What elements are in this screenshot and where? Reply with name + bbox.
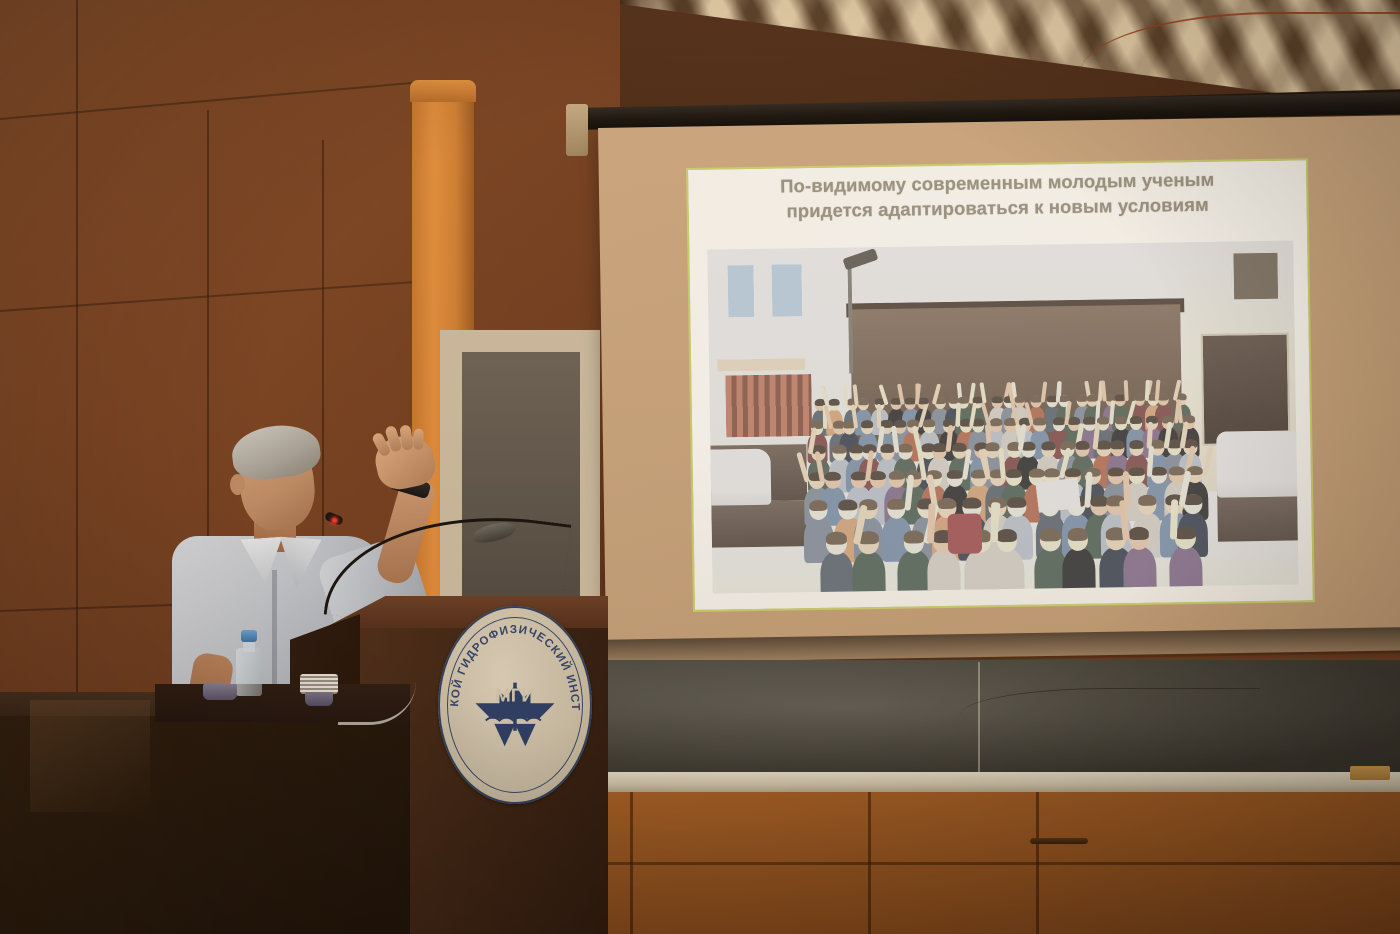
photo-person-hair	[1130, 440, 1144, 449]
photo-person-hair	[937, 498, 956, 510]
photo-crowd	[707, 240, 1298, 593]
projected-slide[interactable]: По-видимому современным молодым ученым п…	[686, 158, 1315, 612]
photo-raised-arm	[1101, 380, 1106, 401]
microphone-led-icon	[331, 517, 338, 524]
photo-person-hair	[1044, 468, 1060, 478]
photo-raised-arm	[843, 384, 847, 405]
photo-person-hair	[1083, 417, 1095, 425]
photo-person-hair	[1151, 466, 1167, 476]
photo-person-hair	[1014, 396, 1025, 403]
photo-person-hair	[858, 398, 869, 405]
photo-person	[927, 549, 961, 593]
slide-title: По-видимому современным молодым ученым п…	[688, 166, 1307, 226]
photo-person-hair	[849, 445, 863, 454]
photo-person-hair	[1033, 418, 1045, 426]
photo-raised-arm	[1124, 380, 1129, 401]
water-bottle[interactable]	[236, 648, 262, 696]
photo-person	[1062, 547, 1096, 593]
table-highlight	[30, 700, 150, 812]
photo-person-hair	[997, 529, 1018, 542]
photo-person-hair	[1006, 468, 1022, 478]
photo-person-hair	[889, 470, 905, 480]
photo-person-hair	[1175, 526, 1196, 539]
photo-person-hair	[953, 443, 967, 452]
lit-door-edge-top	[410, 80, 476, 102]
svg-text:МГИ: МГИ	[495, 686, 535, 707]
wall-seam	[0, 281, 419, 312]
photo-person-hair	[861, 420, 873, 428]
photo-person-hair	[1110, 440, 1124, 449]
photo-person-hair	[898, 444, 912, 453]
photo-person-hair	[870, 470, 886, 480]
slide-group-photo	[707, 240, 1298, 593]
photo-person-hair	[1168, 466, 1184, 476]
photo-person-hair	[839, 499, 858, 511]
saucer-stack[interactable]	[300, 674, 338, 694]
photo-person	[820, 551, 854, 593]
presentation-photo-scene: По-видимому современным молодым ученым п…	[0, 0, 1400, 934]
photo-person-hair	[824, 471, 840, 481]
photo-person-hair	[809, 500, 828, 512]
photo-person-hair	[985, 442, 999, 451]
photo-person-hair	[1108, 467, 1124, 477]
photo-raised-arm	[991, 503, 998, 543]
photo-raised-arm	[956, 403, 960, 427]
cabinet-seam	[600, 862, 1400, 865]
photo-raised-arm	[877, 404, 881, 428]
photo-person-hair	[894, 420, 906, 428]
photo-person-hair	[1129, 466, 1145, 476]
finger	[399, 425, 413, 451]
photo-person-hair	[992, 396, 1003, 403]
photo-person-hair	[947, 469, 963, 479]
photo-raised-arm	[853, 384, 859, 405]
finger	[413, 429, 423, 450]
photo-person-hair	[903, 530, 924, 543]
photo-person	[991, 548, 1025, 593]
photo-person-hair	[1138, 494, 1157, 506]
photo-person	[1123, 546, 1157, 593]
photo-person-hair	[1040, 528, 1061, 541]
photo-person-hair	[832, 445, 846, 454]
wall-seam	[0, 81, 418, 120]
photo-person	[1169, 546, 1203, 594]
photo-person-hair	[1007, 496, 1026, 508]
chalkboard-shading	[604, 660, 1400, 778]
photo-person-hair	[829, 399, 840, 406]
photo-person-hair	[1097, 441, 1111, 450]
photo-person-hair	[1075, 441, 1089, 450]
chalk-ledge	[600, 772, 1400, 794]
cup[interactable]	[203, 684, 237, 700]
photo-person-hair	[923, 419, 935, 427]
photo-person-hair	[1115, 416, 1127, 424]
photo-person-hair	[880, 444, 894, 453]
photo-person	[852, 551, 886, 594]
screen-roller-bracket	[566, 104, 588, 156]
photo-person-hair	[1065, 467, 1081, 477]
photo-person-hair	[1031, 395, 1042, 402]
photo-person-hair	[990, 418, 1002, 426]
photo-person-hair	[887, 498, 906, 510]
chalkboard-eraser[interactable]	[1350, 766, 1390, 780]
photo-person-hair	[963, 497, 982, 509]
photo-person-hair	[1068, 528, 1089, 541]
photo-person-hair	[932, 443, 946, 452]
photo-raised-arm	[1202, 445, 1214, 476]
photo-person-hair	[1129, 527, 1150, 540]
photo-person-hair	[826, 531, 847, 544]
photo-person-hair	[1130, 416, 1142, 424]
lower-wall-cabinets	[600, 792, 1400, 934]
photo-person	[897, 550, 931, 594]
cabinet-handle[interactable]	[1030, 838, 1088, 844]
chalkboard-seam	[978, 662, 980, 774]
photo-person-hair	[918, 397, 929, 404]
photo-person-hair	[1134, 394, 1145, 401]
photo-person-hair	[1041, 442, 1055, 451]
photo-person-hair	[1029, 468, 1045, 478]
photo-raised-arm	[1170, 500, 1178, 540]
speaker-ear	[230, 474, 245, 495]
photo-person-hair	[1158, 393, 1169, 400]
water-bottle-cap[interactable]	[241, 630, 257, 642]
photo-backpack	[947, 513, 982, 554]
cup[interactable]	[305, 692, 333, 706]
emblem-ship-monogram: МГИ	[471, 665, 559, 751]
photo-certificate	[1036, 478, 1081, 513]
